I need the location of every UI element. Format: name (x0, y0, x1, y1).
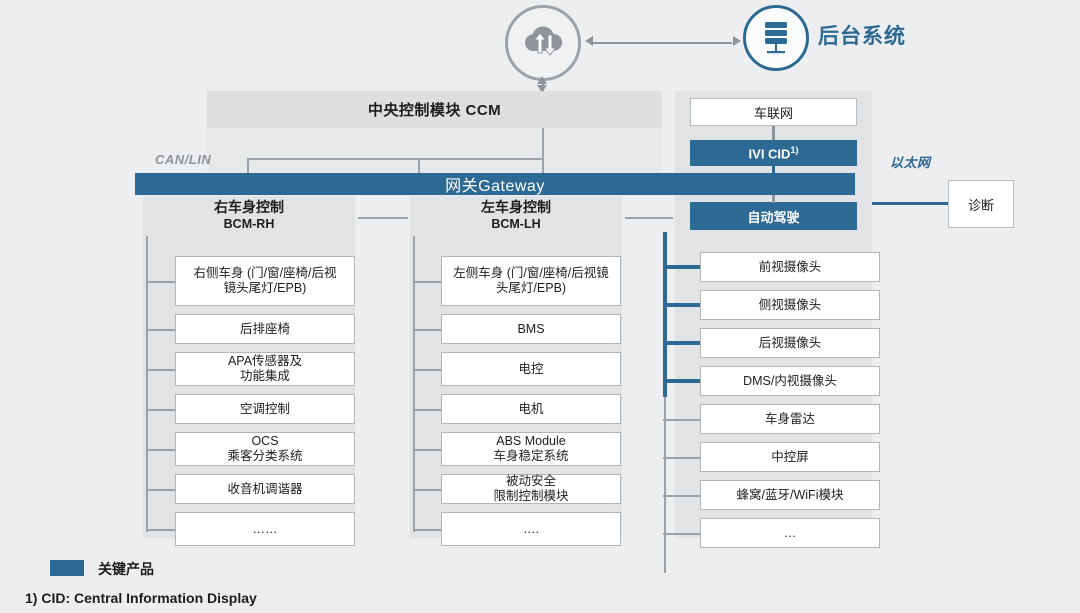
item-label: ABS Module 车身稳定系统 (493, 434, 568, 464)
item-box[interactable]: …. (441, 512, 621, 546)
item-label: 车身雷达 (765, 412, 815, 427)
telematics-ivi-connector (772, 126, 775, 140)
branch-line (663, 457, 700, 459)
branch-line (146, 281, 175, 283)
item-label: 后视摄像头 (759, 336, 822, 351)
autonomous-driving-box[interactable]: 自动驾驶 (690, 202, 857, 230)
bcm-lh-subtitle: BCM-LH (491, 217, 540, 233)
bcm-lh-ad-link (625, 217, 673, 219)
ivi-cid-box[interactable]: IVI CID1) (690, 140, 857, 166)
bcm-rh-subtitle: BCM-RH (224, 217, 275, 233)
item-box[interactable]: 空调控制 (175, 394, 355, 424)
item-label: … (784, 526, 797, 541)
item-label: 中控屏 (771, 450, 809, 465)
item-label: …. (523, 522, 539, 537)
branch-line (413, 529, 441, 531)
branch-line (146, 489, 175, 491)
item-label: 后排座椅 (240, 322, 290, 337)
item-label: APA传感器及 功能集成 (228, 354, 302, 384)
item-box[interactable]: 蜂窝/蓝牙/WiFi模块 (700, 480, 880, 510)
item-box[interactable]: 收音机调谐器 (175, 474, 355, 504)
item-box[interactable]: 后视摄像头 (700, 328, 880, 358)
item-label: 空调控制 (240, 402, 290, 417)
cloud-server-connector (592, 42, 732, 44)
legend-label: 关键产品 (98, 559, 154, 579)
ccm-branch-lh (418, 158, 420, 174)
branch-line (413, 449, 441, 451)
item-box[interactable]: 后排座椅 (175, 314, 355, 344)
branch-line-key (663, 265, 700, 269)
branch-line (663, 419, 700, 421)
item-label: 前视摄像头 (759, 260, 822, 275)
item-box[interactable]: 车身雷达 (700, 404, 880, 434)
item-box[interactable]: DMS/内视摄像头 (700, 366, 880, 396)
item-box[interactable]: 被动安全 限制控制模块 (441, 474, 621, 504)
diagnostics-connector (872, 202, 948, 205)
item-label: 左侧车身 (门/窗/座椅/后视镜 头尾灯/EPB) (453, 266, 609, 296)
legend-swatch (50, 560, 84, 576)
item-box[interactable]: OCS 乘客分类系统 (175, 432, 355, 466)
autonomous-trunk-blue (663, 232, 667, 397)
autonomous-trunk-grey (664, 397, 666, 573)
item-box[interactable]: APA传感器及 功能集成 (175, 352, 355, 386)
diagram-canvas: 后台系统 中央控制模块 CCM 车联网 IVI CID1) 自动驾驶 网关Gat… (0, 0, 1080, 613)
item-label: BMS (517, 322, 544, 337)
item-label: 侧视摄像头 (759, 298, 822, 313)
branch-line (663, 533, 700, 535)
backend-system-label: 后台系统 (818, 20, 906, 50)
branch-line (663, 495, 700, 497)
footnote-cid: 1) CID: Central Information Display (25, 590, 257, 606)
telematics-box[interactable]: 车联网 (690, 98, 857, 126)
branch-line-key (663, 303, 700, 307)
bcm-rh-lh-link (358, 217, 408, 219)
bcm-lh-header[interactable]: 左车身控制 BCM-LH (410, 198, 622, 234)
ccm-trunk-horizontal (247, 158, 543, 160)
item-label: 电机 (518, 402, 543, 417)
branch-line (146, 529, 175, 531)
item-label: 蜂窝/蓝牙/WiFi模块 (737, 488, 844, 503)
ccm-lower-band (207, 128, 662, 175)
branch-line (413, 281, 441, 283)
gateway-label: 网关Gateway (135, 173, 855, 195)
item-box[interactable]: ABS Module 车身稳定系统 (441, 432, 621, 466)
branch-line (146, 449, 175, 451)
branch-line (146, 409, 175, 411)
item-box[interactable]: …… (175, 512, 355, 546)
item-box[interactable]: 右侧车身 (门/窗/座椅/后视 镜头尾灯/EPB) (175, 256, 355, 306)
can-lin-label: CAN/LIN (155, 152, 211, 167)
ethernet-label: 以太网 (890, 152, 931, 171)
arrow-head-left-icon (585, 36, 593, 46)
item-label: …… (253, 522, 278, 537)
item-box[interactable]: 电控 (441, 352, 621, 386)
branch-line (146, 369, 175, 371)
bcm-lh-title: 左车身控制 (481, 199, 551, 217)
item-box[interactable]: 前视摄像头 (700, 252, 880, 282)
bcm-rh-header[interactable]: 右车身控制 BCM-RH (143, 198, 355, 234)
bcm-rh-title: 右车身控制 (214, 199, 284, 217)
item-label: 电控 (518, 362, 543, 377)
item-label: 被动安全 限制控制模块 (493, 474, 568, 504)
item-box[interactable]: 左侧车身 (门/窗/座椅/后视镜 头尾灯/EPB) (441, 256, 621, 306)
cloud-sync-icon (505, 5, 581, 81)
ccm-trunk-vertical (542, 128, 544, 158)
item-label: OCS 乘客分类系统 (227, 434, 302, 464)
item-label: 收音机调谐器 (227, 482, 302, 497)
item-box[interactable]: … (700, 518, 880, 548)
item-box[interactable]: 中控屏 (700, 442, 880, 472)
item-box[interactable]: 电机 (441, 394, 621, 424)
branch-line (413, 369, 441, 371)
item-label: DMS/内视摄像头 (743, 374, 837, 389)
item-label: 右侧车身 (门/窗/座椅/后视 镜头尾灯/EPB) (193, 266, 336, 296)
ivi-cid-label: IVI CID1) (749, 145, 799, 161)
item-box[interactable]: BMS (441, 314, 621, 344)
branch-line (146, 329, 175, 331)
branch-line (413, 329, 441, 331)
arrow-head-right-icon (733, 36, 741, 46)
branch-line-key (663, 341, 700, 345)
branch-line (413, 489, 441, 491)
diagnostics-box[interactable]: 诊断 (948, 180, 1014, 228)
arrow-head-up-icon (537, 76, 547, 84)
ccm-title: 中央控制模块 CCM (207, 91, 662, 128)
item-box[interactable]: 侧视摄像头 (700, 290, 880, 320)
branch-line (413, 409, 441, 411)
ccm-branch-rh (247, 158, 249, 174)
gateway-autonomous-connector (772, 195, 775, 203)
branch-line-key (663, 379, 700, 383)
server-stack-icon (743, 5, 809, 71)
